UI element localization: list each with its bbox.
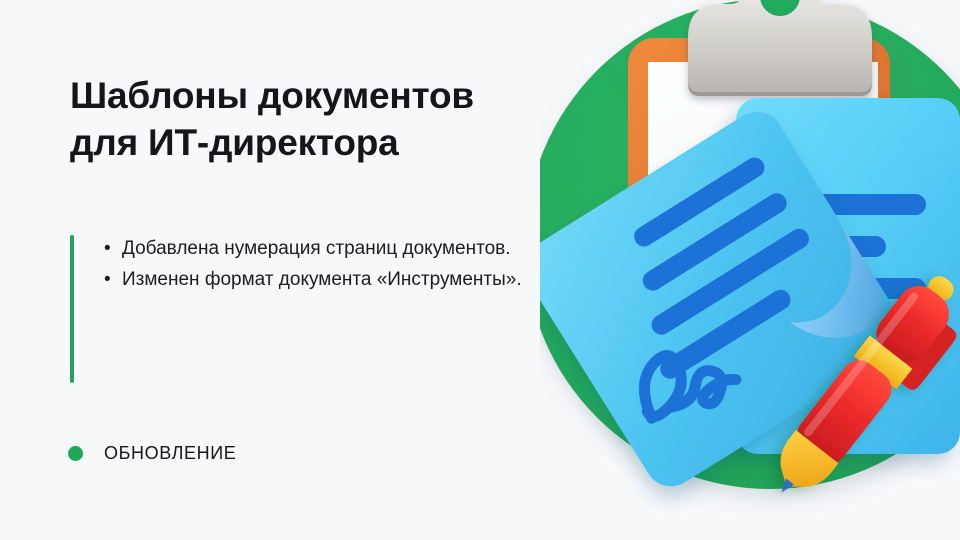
bullet-marker-icon: •	[104, 235, 111, 264]
content-column: Шаблоны документов для ИТ-директора • До…	[0, 0, 560, 540]
illustration-clipboard-documents-pen	[540, 0, 960, 540]
page-title: Шаблоны документов для ИТ-директора	[70, 72, 550, 167]
page-title-line-1: Шаблоны документов	[70, 72, 550, 119]
bullet-marker-icon: •	[104, 266, 111, 295]
page-title-line-2: для ИТ-директора	[70, 119, 550, 166]
accent-bar	[70, 235, 74, 383]
status-badge: ОБНОВЛЕНИЕ	[68, 443, 236, 464]
status-badge-label: ОБНОВЛЕНИЕ	[104, 443, 236, 464]
list-item: • Добавлена нумерация страниц документов…	[100, 235, 540, 264]
status-dot-icon	[68, 446, 83, 461]
clipboard-clip-icon	[688, 0, 872, 96]
bullet-list: • Добавлена нумерация страниц документов…	[100, 235, 540, 295]
bullet-section: • Добавлена нумерация страниц документов…	[70, 235, 540, 297]
list-item-text: Изменен формат документа «Инструменты».	[122, 269, 522, 290]
slide-root: Шаблоны документов для ИТ-директора • До…	[0, 0, 960, 540]
list-item-text: Добавлена нумерация страниц документов.	[122, 238, 511, 259]
list-item: • Изменен формат документа «Инструменты»…	[100, 266, 540, 295]
